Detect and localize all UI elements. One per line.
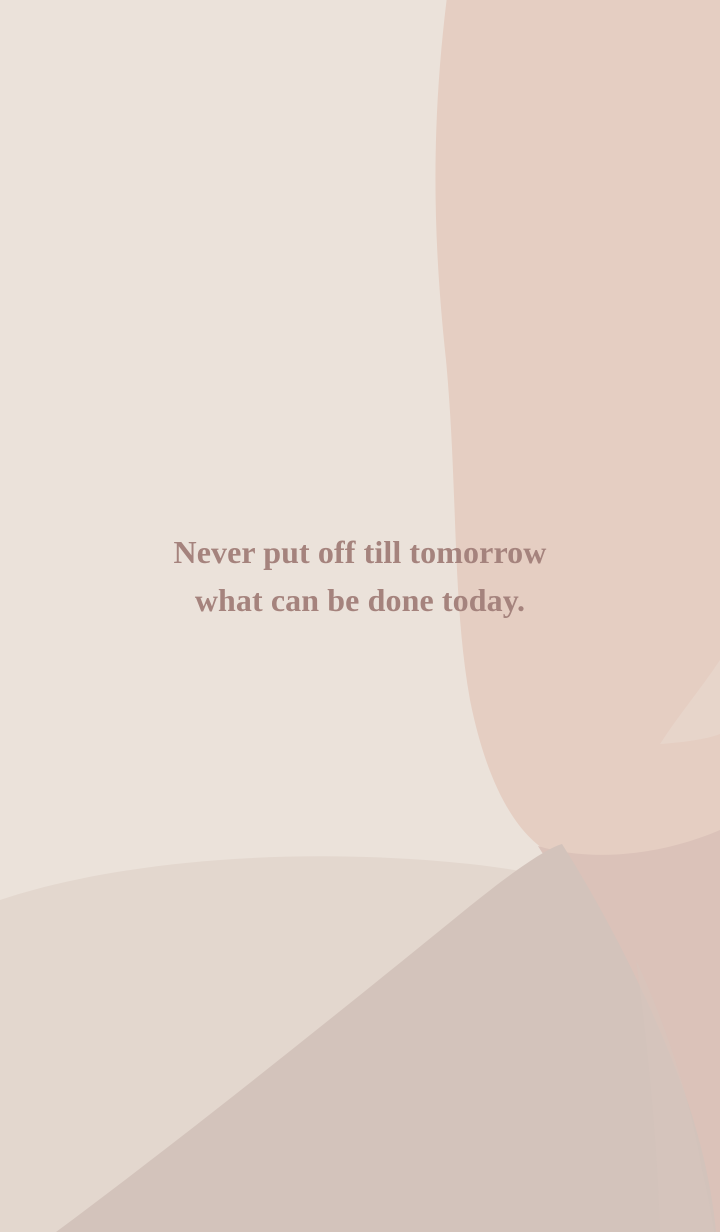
quote-block: Never put off till tomorrow what can be …	[0, 528, 720, 624]
quote-line-2: what can be done today.	[0, 576, 720, 624]
quote-line-1: Never put off till tomorrow	[0, 528, 720, 576]
wallpaper-canvas: Never put off till tomorrow what can be …	[0, 0, 720, 1232]
